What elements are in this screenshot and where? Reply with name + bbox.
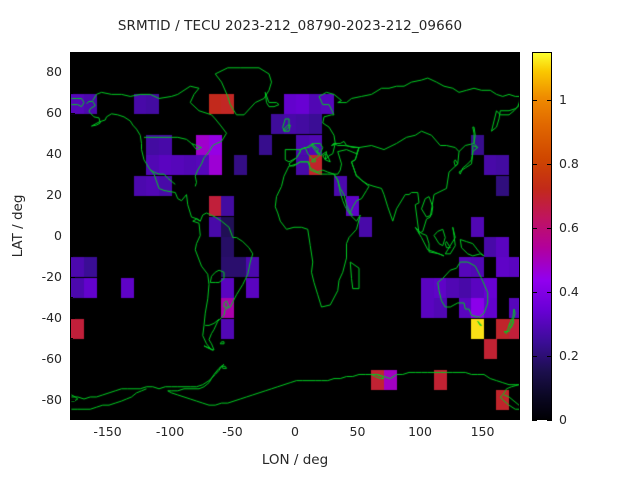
- y-tick-mark: [70, 277, 75, 278]
- y-tick-mark: [70, 318, 75, 319]
- x-minor-tick: [326, 416, 327, 419]
- x-tick-label: 150: [471, 424, 495, 439]
- y-tick-mark: [70, 72, 75, 73]
- y-tick-mark: [70, 236, 75, 237]
- y-tick-label: 80: [46, 64, 62, 79]
- x-minor-tick: [201, 416, 202, 419]
- y-tick-mark: [70, 113, 75, 114]
- x-minor-tick: [264, 416, 265, 419]
- y-tick-label: 40: [46, 146, 62, 161]
- x-minor-tick: [389, 416, 390, 419]
- colorbar-tick-mark: [547, 100, 552, 101]
- map-plot-area[interactable]: [70, 52, 520, 420]
- x-axis-label: LON / deg: [70, 452, 520, 468]
- x-tick-mark: [170, 414, 171, 419]
- y-tick-mark: [70, 154, 75, 155]
- y-minor-tick: [70, 93, 73, 94]
- colorbar-tick-mark: [547, 420, 552, 421]
- x-minor-tick: [76, 416, 77, 419]
- y-tick-label: 20: [46, 187, 62, 202]
- x-tick-mark: [420, 414, 421, 419]
- x-tick-label: -100: [156, 424, 184, 439]
- x-tick-label: 50: [350, 424, 366, 439]
- x-tick-label: 100: [408, 424, 432, 439]
- x-minor-tick: [139, 416, 140, 419]
- x-tick-label: -50: [222, 424, 242, 439]
- y-tick-mark: [70, 400, 75, 401]
- y-tick-mark: [70, 359, 75, 360]
- y-axis-label: LAT / deg: [10, 171, 26, 281]
- colorbar-tick-label: 0: [559, 412, 567, 427]
- colorbar-tick-mark: [532, 100, 537, 101]
- x-tick-mark: [483, 414, 484, 419]
- y-tick-label: -60: [42, 351, 62, 366]
- colorbar-tick-label: 0.4: [559, 284, 579, 299]
- colorbar-tick-mark: [547, 356, 552, 357]
- y-minor-tick: [70, 338, 73, 339]
- colorbar-tick-label: 0.2: [559, 348, 579, 363]
- colorbar-tick-label: 0.6: [559, 220, 579, 235]
- y-minor-tick: [70, 175, 73, 176]
- x-tick-label: -150: [93, 424, 121, 439]
- colorbar-tick-label: 1: [559, 92, 567, 107]
- y-minor-tick: [70, 297, 73, 298]
- x-minor-tick: [514, 416, 515, 419]
- colorbar-tick-mark: [547, 228, 552, 229]
- x-tick-mark: [295, 414, 296, 419]
- colorbar-tick-mark: [532, 292, 537, 293]
- y-tick-label: -80: [42, 392, 62, 407]
- x-tick-mark: [233, 414, 234, 419]
- colorbar-tick-mark: [547, 164, 552, 165]
- colorbar-tick-mark: [532, 164, 537, 165]
- colorbar-tick-mark: [547, 292, 552, 293]
- x-tick-label: 0: [291, 424, 299, 439]
- heatmap-canvas[interactable]: [71, 53, 520, 420]
- y-tick-label: -40: [42, 310, 62, 325]
- colorbar-tick-mark: [532, 228, 537, 229]
- y-tick-label: 0: [54, 228, 62, 243]
- y-minor-tick: [70, 256, 73, 257]
- colorbar-tick-mark: [532, 356, 537, 357]
- colorbar-tick-label: 0.8: [559, 156, 579, 171]
- colorbar[interactable]: [532, 52, 552, 420]
- y-tick-label: -20: [42, 269, 62, 284]
- x-minor-tick: [451, 416, 452, 419]
- y-minor-tick: [70, 134, 73, 135]
- colorbar-tick-mark: [532, 420, 537, 421]
- y-minor-tick: [70, 379, 73, 380]
- tec-map-figure: SRMTID / TECU 2023-212_08790-2023-212_09…: [0, 0, 640, 480]
- y-tick-label: 60: [46, 105, 62, 120]
- x-tick-mark: [108, 414, 109, 419]
- y-minor-tick: [70, 216, 73, 217]
- x-tick-mark: [358, 414, 359, 419]
- y-tick-mark: [70, 195, 75, 196]
- page-title: SRMTID / TECU 2023-212_08790-2023-212_09…: [0, 18, 580, 34]
